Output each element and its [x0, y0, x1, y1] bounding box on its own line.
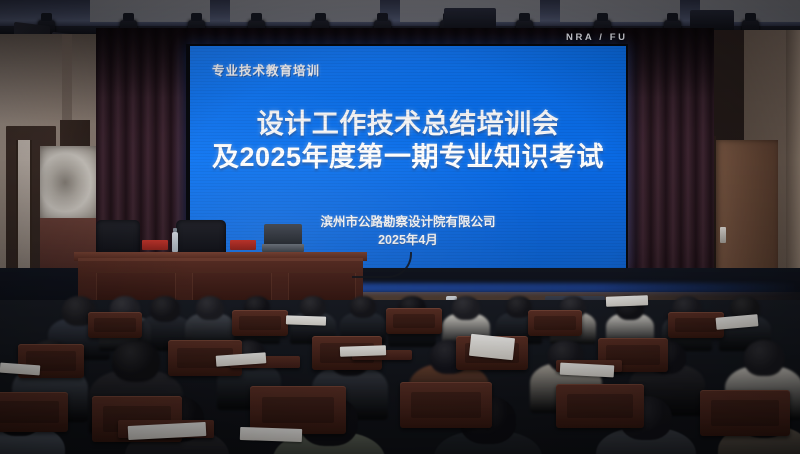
- auditorium-seat[interactable]: [0, 392, 68, 432]
- executive-chair[interactable]: [96, 220, 140, 256]
- slide-title-line1: 设计工作技术总结培训会: [190, 108, 626, 141]
- conference-hall-photo: 专业技术教育培训 设计工作技术总结培训会 及2025年度第一期专业知识考试 滨州…: [0, 0, 800, 454]
- slide-kicker-text: 专业技术教育培训: [212, 60, 320, 79]
- auditorium-seat[interactable]: [556, 384, 644, 428]
- person-head: [744, 340, 784, 376]
- slide-title-line2: 及2025年度第一期专业知识考试: [190, 141, 626, 174]
- person-head: [150, 296, 180, 322]
- laptop-base: [262, 244, 304, 252]
- auditorium-seat[interactable]: [528, 310, 582, 336]
- door-handle-icon[interactable]: [720, 227, 726, 243]
- auditorium-seat[interactable]: [700, 390, 790, 436]
- auditorium-seat[interactable]: [232, 310, 288, 336]
- auditorium-seat[interactable]: [386, 308, 442, 334]
- slide-org: 滨州市公路勘察设计院有限公司: [190, 214, 626, 232]
- exam-paper: [286, 315, 326, 325]
- led-presentation-screen[interactable]: 专业技术教育培训 设计工作技术总结培训会 及2025年度第一期专业知识考试 滨州…: [190, 46, 626, 268]
- exam-paper: [340, 345, 386, 357]
- reflective-wall-board: [40, 146, 100, 222]
- person-head: [196, 296, 224, 320]
- auditorium-seat[interactable]: [400, 382, 492, 428]
- person-head: [112, 340, 160, 382]
- exam-paper: [469, 334, 515, 360]
- person-head: [350, 296, 376, 318]
- exam-paper: [240, 427, 302, 442]
- laptop-screen[interactable]: [264, 224, 302, 246]
- exam-paper: [606, 295, 648, 306]
- person-head: [300, 296, 326, 318]
- venue-logo: NRA / FU: [566, 32, 628, 43]
- slide-title: 设计工作技术总结培训会 及2025年度第一期专业知识考试: [190, 108, 626, 174]
- executive-chair[interactable]: [176, 220, 226, 256]
- auditorium-seat[interactable]: [88, 312, 142, 338]
- water-bottle: [172, 232, 178, 252]
- person-head: [452, 296, 480, 320]
- nameplate: [230, 240, 256, 250]
- nameplate: [142, 240, 168, 250]
